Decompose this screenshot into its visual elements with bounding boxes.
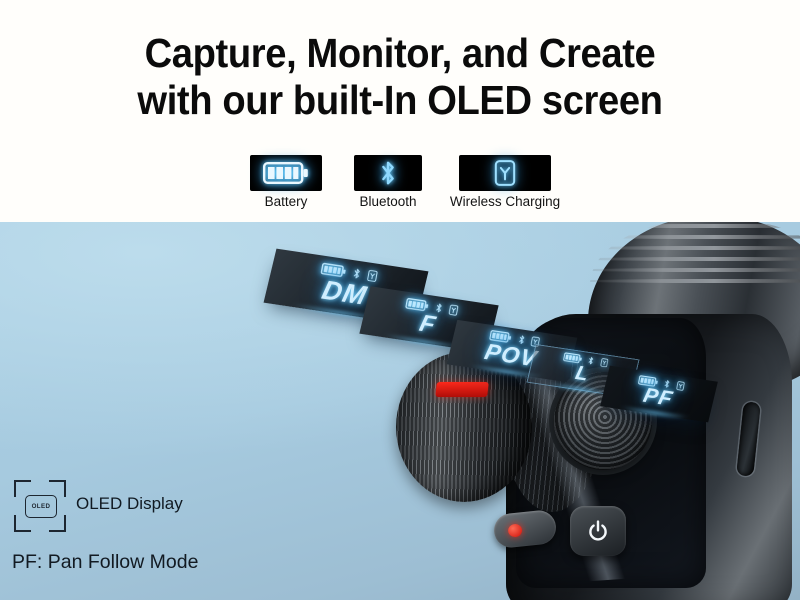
power-icon: [586, 519, 610, 543]
bluetooth-icon-chip: [354, 155, 422, 191]
gimbal-arm-ribs: [590, 222, 800, 292]
promo-page: Capture, Monitor, and Create with our bu…: [0, 0, 800, 600]
page-title: Capture, Monitor, and Create with our bu…: [28, 30, 772, 124]
oled-chip-icon: OLED: [25, 495, 57, 518]
feature-badge-bluetooth: Bluetooth: [340, 155, 436, 209]
feature-badge-battery: Battery: [236, 155, 336, 209]
power-button[interactable]: [570, 506, 626, 556]
record-indicator: [507, 523, 522, 537]
oled-display-label: OLED Display: [76, 494, 183, 514]
oled-display-badge: OLED OLED Display: [14, 480, 204, 532]
wireless-charging-icon-chip: [459, 155, 551, 191]
feature-badge-wireless: Wireless Charging: [430, 155, 580, 209]
product-photo-section: OLED OLED Display PF: Pan Follow Mode L:…: [0, 222, 800, 600]
battery-icon: [263, 162, 309, 184]
feature-label-bluetooth: Bluetooth: [340, 194, 436, 209]
control-wheel-indicator: [435, 382, 489, 397]
wireless-charging-icon: [494, 159, 516, 187]
mode-legend-item-pf: PF: Pan Follow Mode: [12, 552, 312, 572]
bluetooth-icon: [378, 159, 398, 187]
feature-label-wireless: Wireless Charging: [430, 194, 580, 209]
mode-legend-list: PF: Pan Follow Mode L: Full Lock Mode PO…: [12, 552, 312, 600]
feature-label-battery: Battery: [236, 194, 336, 209]
battery-icon-chip: [250, 155, 322, 191]
header-section: Capture, Monitor, and Create with our bu…: [0, 0, 800, 222]
feature-badge-row: Battery Bluetooth Wireless Charging: [0, 155, 800, 223]
